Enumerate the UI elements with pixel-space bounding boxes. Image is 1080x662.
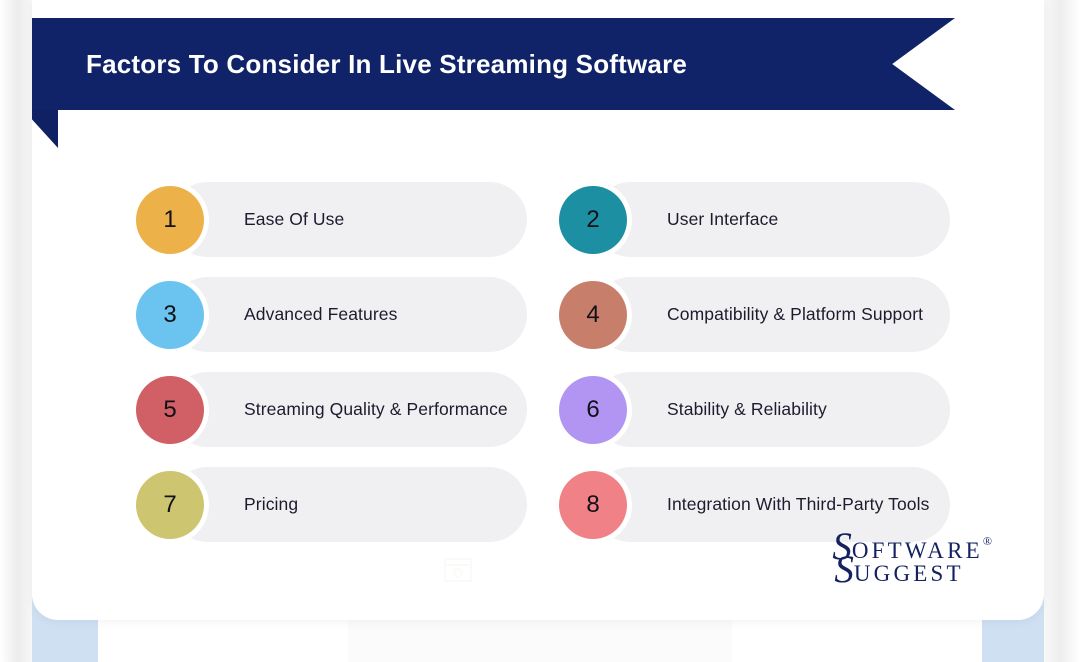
factor-number-4: 4 xyxy=(586,301,599,329)
factors-row: Advanced Features 3 Compatibility & Plat… xyxy=(136,277,950,352)
factor-label-2: User Interface xyxy=(667,206,778,233)
factor-pill-5[interactable]: Streaming Quality & Performance xyxy=(170,372,527,447)
factor-item-1[interactable]: Ease Of Use 1 xyxy=(136,182,527,257)
factor-label-4: Compatibility & Platform Support xyxy=(667,301,923,328)
factors-row: Streaming Quality & Performance 5 Stabil… xyxy=(136,372,950,447)
factor-number-badge-1: 1 xyxy=(136,186,204,254)
registered-trademark-icon: ® xyxy=(983,531,992,548)
factor-pill-7[interactable]: Pricing xyxy=(170,467,527,542)
softwaresuggest-logo: S oftware ® S uggest xyxy=(832,531,992,586)
factors-grid: Ease Of Use 1 User Interface 2 xyxy=(136,182,950,562)
factor-number-3: 3 xyxy=(163,301,176,329)
factors-row: Ease Of Use 1 User Interface 2 xyxy=(136,182,950,257)
factor-number-7: 7 xyxy=(163,491,176,519)
page-title: Factors To Consider In Live Streaming So… xyxy=(86,49,687,80)
factor-number-badge-6: 6 xyxy=(559,376,627,444)
factor-pill-3[interactable]: Advanced Features xyxy=(170,277,527,352)
factor-label-7: Pricing xyxy=(244,491,298,518)
factor-label-8: Integration With Third-Party Tools xyxy=(667,491,929,518)
factor-label-1: Ease Of Use xyxy=(244,206,344,233)
infographic-card: Factors To Consider In Live Streaming So… xyxy=(32,0,1044,620)
factor-pill-4[interactable]: Compatibility & Platform Support xyxy=(593,277,950,352)
factor-item-3[interactable]: Advanced Features 3 xyxy=(136,277,527,352)
factor-number-badge-3: 3 xyxy=(136,281,204,349)
factor-item-7[interactable]: Pricing 7 xyxy=(136,467,527,542)
factors-row: Pricing 7 Integration With Third-Party T… xyxy=(136,467,950,542)
factor-label-5: Streaming Quality & Performance xyxy=(244,396,508,423)
factor-label-3: Advanced Features xyxy=(244,301,397,328)
factor-pill-1[interactable]: Ease Of Use xyxy=(170,182,527,257)
logo-word-suggest: uggest xyxy=(854,554,964,586)
factor-number-6: 6 xyxy=(586,396,599,424)
watermark-icon xyxy=(444,558,472,582)
logo-capital-s-2: S xyxy=(834,554,854,586)
factor-item-5[interactable]: Streaming Quality & Performance 5 xyxy=(136,372,527,447)
factor-number-2: 2 xyxy=(586,206,599,234)
factor-number-badge-8: 8 xyxy=(559,471,627,539)
header-ribbon: Factors To Consider In Live Streaming So… xyxy=(32,18,972,128)
factor-number-badge-7: 7 xyxy=(136,471,204,539)
factor-number-5: 5 xyxy=(163,396,176,424)
background-edge-right xyxy=(1044,0,1080,662)
factor-item-4[interactable]: Compatibility & Platform Support 4 xyxy=(559,277,950,352)
factor-item-2[interactable]: User Interface 2 xyxy=(559,182,950,257)
factor-number-badge-2: 2 xyxy=(559,186,627,254)
factor-number-badge-5: 5 xyxy=(136,376,204,444)
factor-label-6: Stability & Reliability xyxy=(667,396,827,423)
factor-number-1: 1 xyxy=(163,206,176,234)
factor-number-8: 8 xyxy=(586,491,599,519)
ribbon-body-shape: Factors To Consider In Live Streaming So… xyxy=(32,18,955,110)
factor-pill-2[interactable]: User Interface xyxy=(593,182,950,257)
factor-number-badge-4: 4 xyxy=(559,281,627,349)
factor-pill-6[interactable]: Stability & Reliability xyxy=(593,372,950,447)
background-edge-left xyxy=(0,0,32,662)
factor-item-6[interactable]: Stability & Reliability 6 xyxy=(559,372,950,447)
